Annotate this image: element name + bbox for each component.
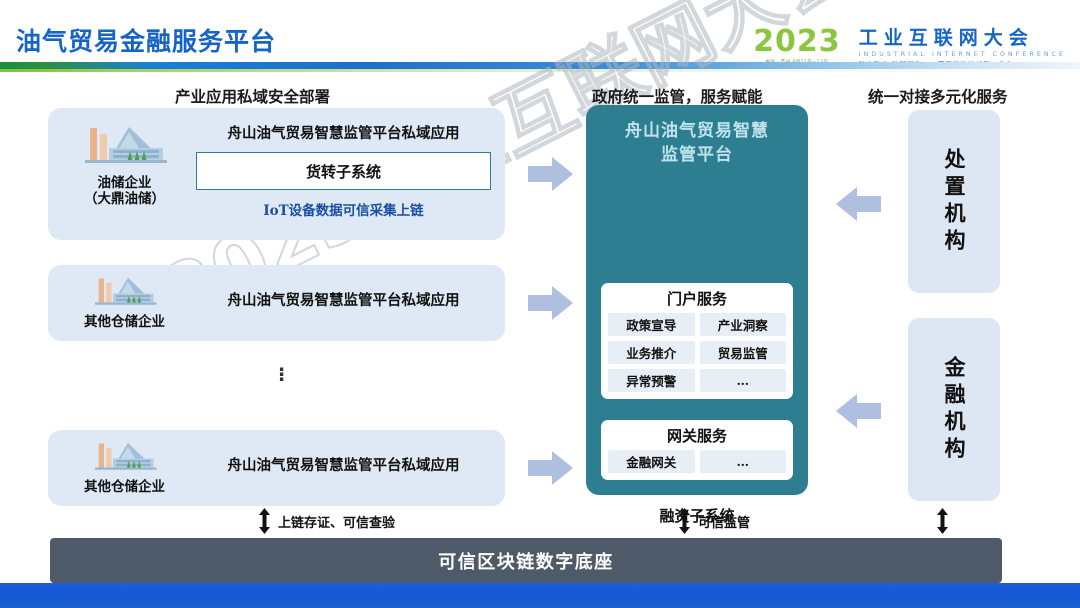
blockchain-base-bar[interactable]: 可信区块链数字底座 xyxy=(50,538,1002,583)
enterprise-name: 其他仓储企业 xyxy=(84,314,165,330)
portal-service-box[interactable]: 门户服务 政策宣导 产业洞察 业务推介 贸易监管 异常预警 … xyxy=(601,283,793,399)
logo-year: 2023 xyxy=(753,28,841,56)
enterprise-name: 其他仓储企业 xyxy=(84,479,165,495)
portal-chip-grid: 政策宣导 产业洞察 业务推介 贸易监管 异常预警 … xyxy=(601,313,793,399)
subsystem-box[interactable]: 货转子系统 xyxy=(196,152,491,190)
gateway-chip[interactable]: 金融网关 xyxy=(608,450,695,473)
enterprise-name-line1: 其他仓储企业 xyxy=(84,314,165,330)
enterprise-app-title: 舟山油气贸易智慧监管平台私域应用 xyxy=(196,454,491,475)
ellipsis-vertical: . . . xyxy=(278,363,285,378)
regulatory-platform-panel[interactable]: 舟山油气贸易智慧 监管平台 门户服务 政策宣导 产业洞察 业务推介 贸易监管 异… xyxy=(586,105,808,495)
enterprise-body: 舟山油气贸易智慧监管平台私域应用 xyxy=(196,289,491,310)
oil-depot-factory-icon xyxy=(84,271,166,313)
gateway-service-box[interactable]: 网关服务 金融网关 … xyxy=(601,420,793,480)
enterprise-card[interactable]: 油储企业 （大鼎油储） 舟山油气贸易智慧监管平台私域应用 货转子系统 IoT设备… xyxy=(48,108,505,240)
platform-title-line1: 舟山油气贸易智慧 xyxy=(586,119,808,143)
connector-group: 上链存证、可信查验 xyxy=(258,508,395,534)
arrow-left-icon xyxy=(836,185,882,223)
arrow-right-icon xyxy=(528,449,574,487)
enterprise-icon-wrap: 油储企业 （大鼎油储） xyxy=(62,118,187,207)
enterprise-app-title: 舟山油气贸易智慧监管平台私域应用 xyxy=(196,122,491,143)
gateway-chip-grid: 金融网关 … xyxy=(601,450,793,480)
portal-chip[interactable]: 贸易监管 xyxy=(700,341,787,364)
connector-label: 上链存证、可信查验 xyxy=(278,512,395,531)
enterprise-name-line1: 其他仓储企业 xyxy=(84,479,165,495)
ellipsis-dot: . xyxy=(278,373,285,378)
double-arrow-vertical-icon xyxy=(258,508,271,534)
blockchain-base-label: 可信区块链数字底座 xyxy=(438,548,614,574)
portal-chip[interactable]: 异常预警 xyxy=(608,369,695,392)
connector-label: 可信监管 xyxy=(698,512,750,531)
enterprise-body: 舟山油气贸易智慧监管平台私域应用 货转子系统 IoT设备数据可信采集上链 xyxy=(196,122,491,219)
gateway-chip-more[interactable]: … xyxy=(700,450,787,473)
oil-depot-factory-icon xyxy=(84,436,166,478)
enterprise-card[interactable]: 其他仓储企业 舟山油气贸易智慧监管平台私域应用 xyxy=(48,265,505,341)
platform-title-line2: 监管平台 xyxy=(586,143,808,167)
double-arrow-vertical-icon xyxy=(678,508,691,534)
slide-header: 油气贸易金融服务平台 2023 中国 · 苏州 9月11日—13日 工业互联网大… xyxy=(0,0,1080,78)
header-gradient-rule-secondary xyxy=(0,69,1080,72)
enterprise-note: IoT设备数据可信采集上链 xyxy=(196,199,491,219)
page-title: 油气贸易金融服务平台 xyxy=(16,22,276,58)
portal-chip-more[interactable]: … xyxy=(700,369,787,392)
arrow-right-icon xyxy=(528,155,574,193)
portal-chip[interactable]: 政策宣导 xyxy=(608,313,695,336)
connector-group xyxy=(936,508,956,534)
organization-box-disposal[interactable]: 处置机构 xyxy=(908,110,1000,293)
portal-service-title: 门户服务 xyxy=(601,283,793,313)
enterprise-name-line2: （大鼎油储） xyxy=(84,191,165,207)
header-gradient-rule xyxy=(0,62,1080,69)
caption-center: 政府统一监管，服务赋能 xyxy=(592,85,763,107)
logo-year-block: 2023 中国 · 苏州 9月11日—13日 xyxy=(753,28,849,65)
organization-box-financial[interactable]: 金融机构 xyxy=(908,318,1000,501)
enterprise-name-line1: 油储企业 xyxy=(84,175,165,191)
caption-left: 产业应用私域安全部署 xyxy=(175,85,330,107)
gateway-service-title: 网关服务 xyxy=(601,420,793,450)
footer-band xyxy=(0,583,1080,608)
enterprise-icon-wrap: 其他仓储企业 xyxy=(62,271,187,330)
arrow-left-icon xyxy=(836,392,882,430)
enterprise-name: 油储企业 （大鼎油储） xyxy=(84,175,165,207)
organization-label: 处置机构 xyxy=(939,148,969,256)
logo-conference-name-cn: 工业互联网大会 xyxy=(859,28,1066,48)
double-arrow-vertical-icon xyxy=(936,508,949,534)
enterprise-icon-wrap: 其他仓储企业 xyxy=(62,436,187,495)
organization-label: 金融机构 xyxy=(939,356,969,464)
caption-right: 统一对接多元化服务 xyxy=(868,85,1008,107)
enterprise-card[interactable]: 其他仓储企业 舟山油气贸易智慧监管平台私域应用 xyxy=(48,430,505,506)
portal-chip[interactable]: 产业洞察 xyxy=(700,313,787,336)
arrow-right-icon xyxy=(528,284,574,322)
enterprise-body: 舟山油气贸易智慧监管平台私域应用 xyxy=(196,454,491,475)
connector-group: 可信监管 xyxy=(678,508,750,534)
oil-depot-factory-icon xyxy=(77,118,173,174)
platform-title: 舟山油气贸易智慧 监管平台 xyxy=(586,119,808,167)
portal-chip[interactable]: 业务推介 xyxy=(608,341,695,364)
logo-conference-name-en: INDUSTRIAL INTERNET CONFERENCE xyxy=(859,50,1066,59)
enterprise-app-title: 舟山油气贸易智慧监管平台私域应用 xyxy=(196,289,491,310)
